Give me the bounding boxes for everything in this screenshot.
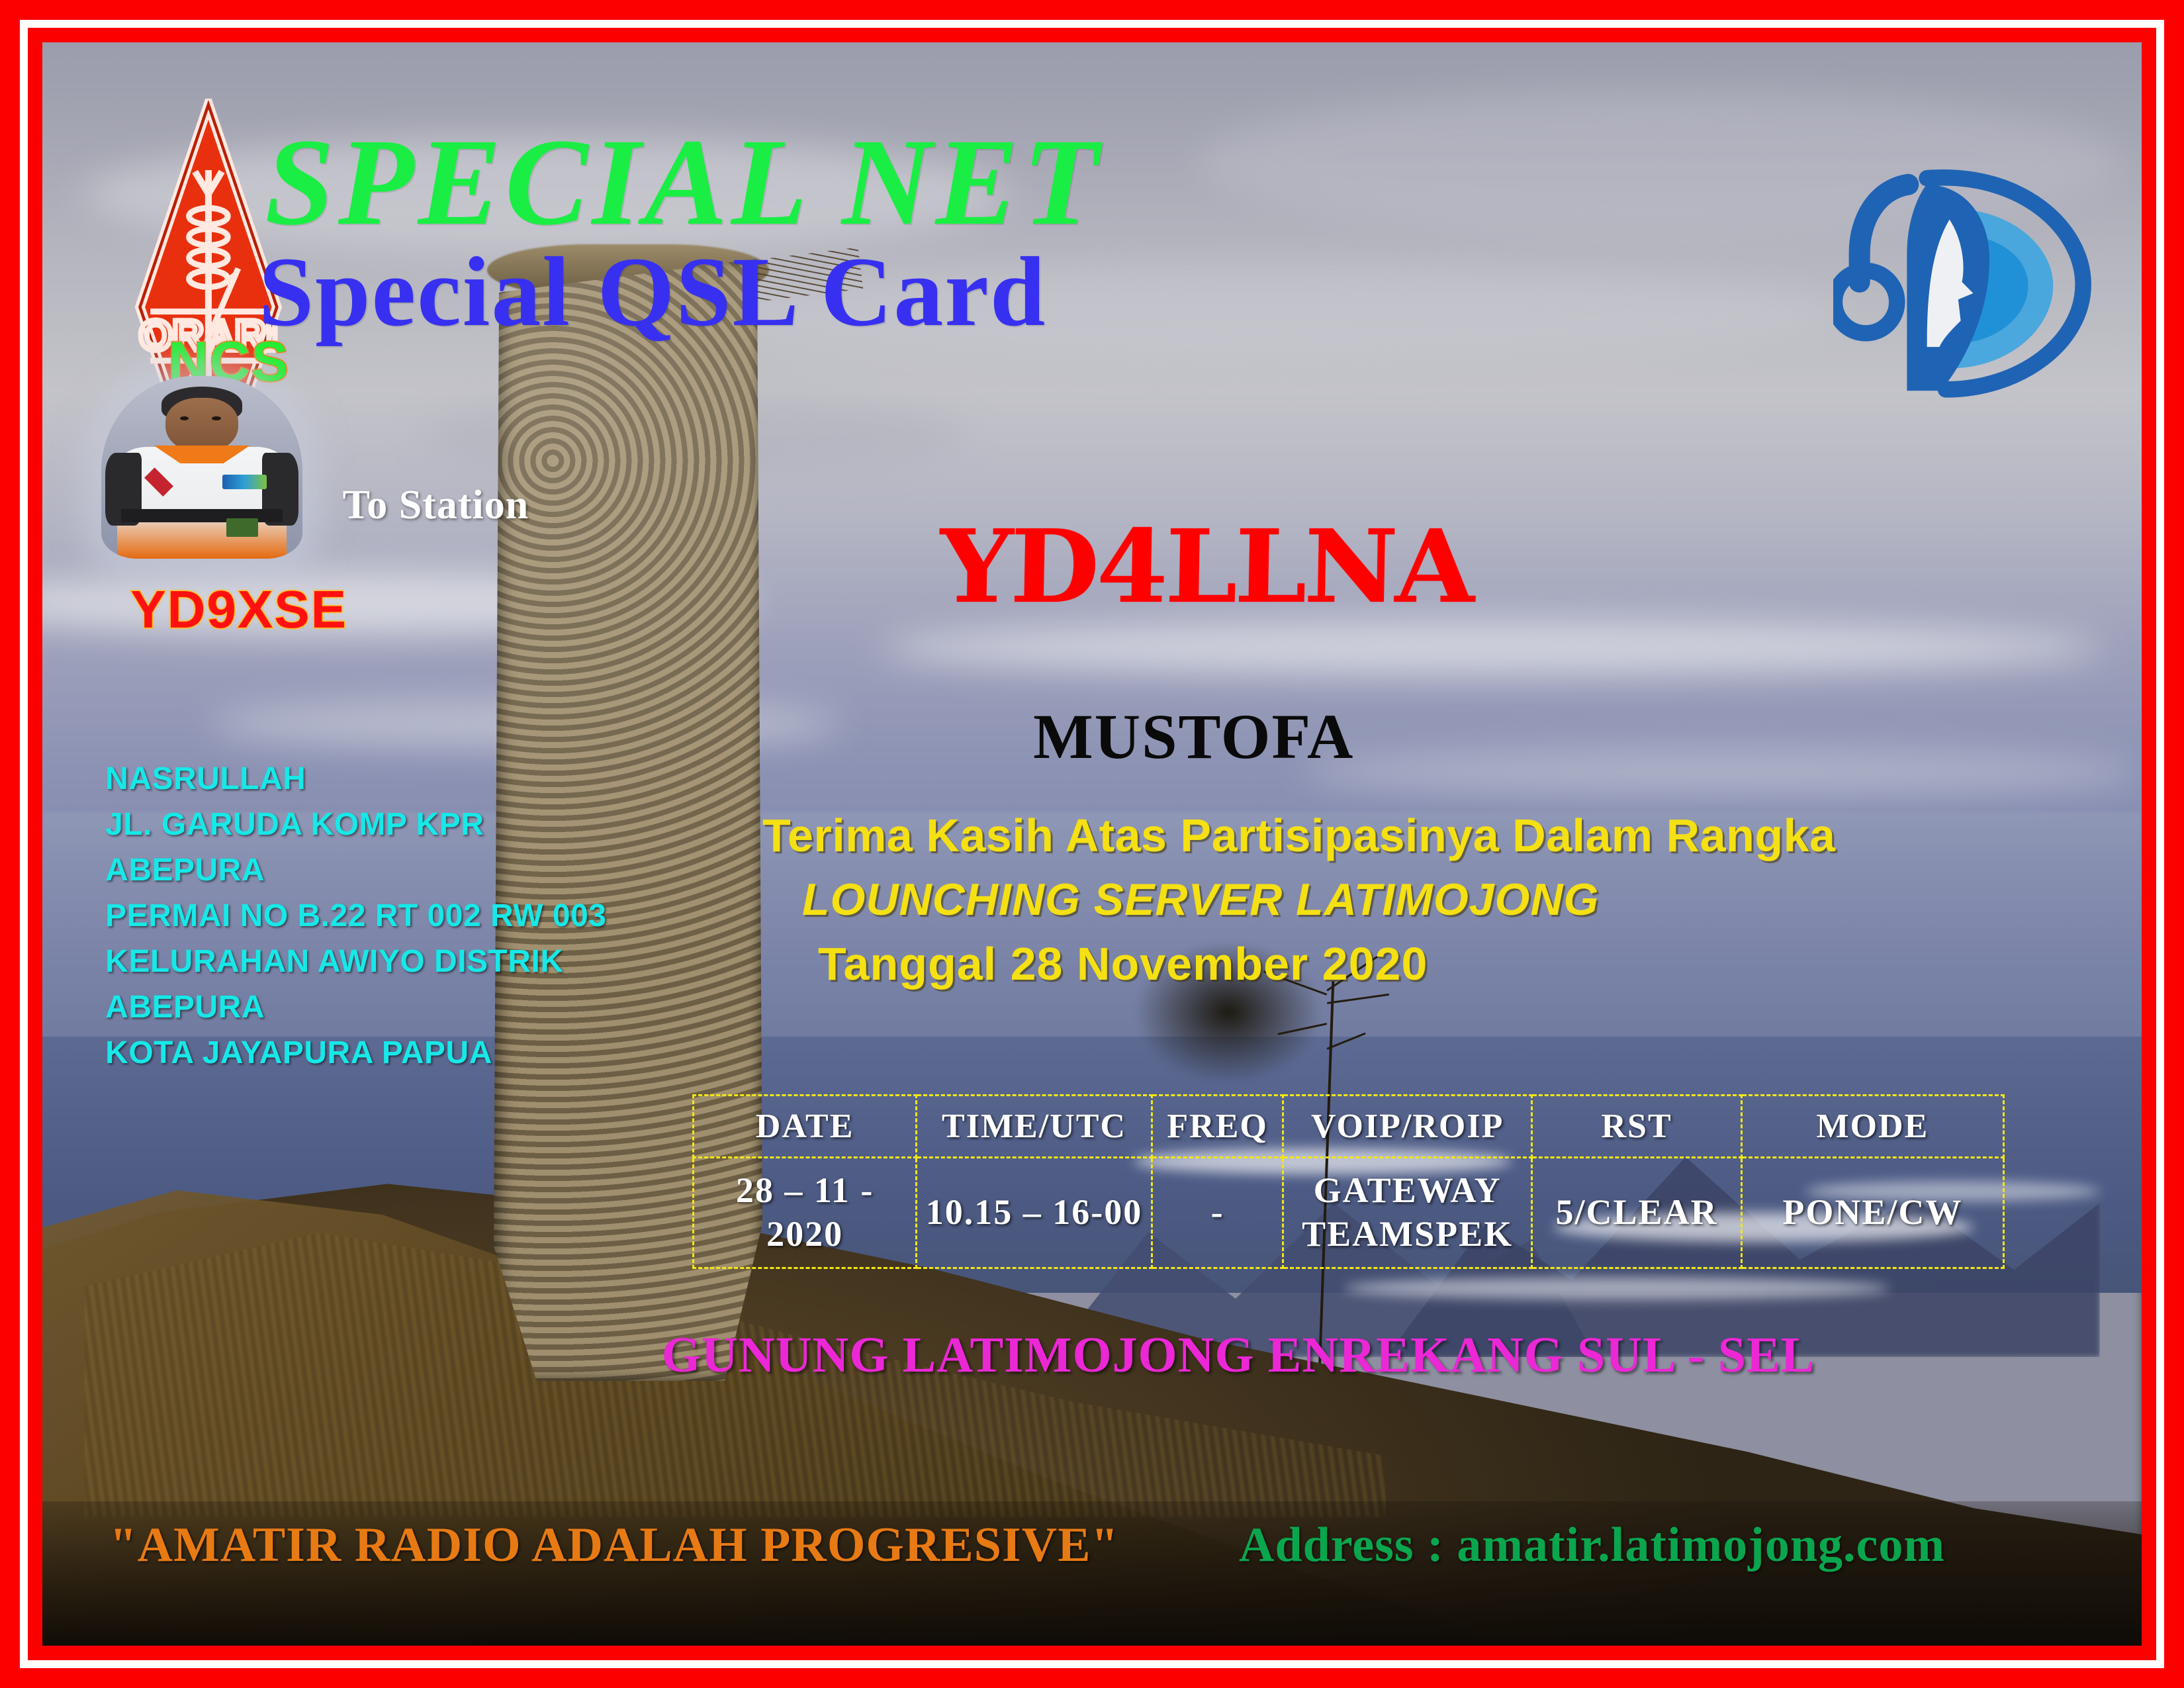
column-header-freq: FREQ (1152, 1095, 1283, 1157)
page-title: SPECIAL NET (265, 110, 1103, 254)
operator-portrait-photo (101, 376, 303, 559)
headset-sound-logo-icon (1833, 110, 2096, 447)
table-header-row: DATE TIME/UTC FREQ VOIP/ROIP RST MODE (694, 1095, 2004, 1157)
address-line: NASRULLAH (105, 756, 606, 802)
footer-address: Address : amatir.latimojong.com (1239, 1517, 1945, 1573)
address-line: ABEPURA (105, 847, 606, 893)
card-inner-frame: ORARI (28, 28, 2156, 1660)
card-overlay: ORARI (42, 42, 2142, 1646)
card-outer-frame: ORARI (0, 0, 2184, 1688)
page-subtitle: Special QSL Card (259, 235, 1047, 349)
column-header-voip-roip: VOIP/ROIP (1283, 1095, 1532, 1157)
footer-motto: "AMATIR RADIO ADALAH PROGRESIVE" (110, 1517, 1119, 1573)
address-line: JL. GARUDA KOMP KPR (105, 802, 606, 847)
cell-rst: 5/CLEAR (1532, 1157, 1742, 1268)
address-block: NASRULLAH JL. GARUDA KOMP KPR ABEPURA PE… (105, 756, 606, 1076)
qsl-card-photo-area: ORARI (42, 42, 2142, 1646)
cell-time-utc: 10.15 – 16-00 (916, 1157, 1152, 1268)
card-white-frame: ORARI (20, 20, 2164, 1668)
column-header-mode: MODE (1741, 1095, 2003, 1157)
table-row: 28 – 11 - 2020 10.15 – 16-00 - GATEWAY T… (694, 1157, 2004, 1268)
column-header-rst: RST (1532, 1095, 1742, 1157)
address-line: PERMAI NO B.22 RT 002 RW 003 (105, 893, 606, 939)
event-date-line: Tanggal 28 November 2020 (818, 937, 1836, 990)
portrait-id-card (226, 518, 259, 537)
station-callsign: YD4LLNA (938, 507, 1473, 626)
portrait-uniform (117, 447, 287, 558)
event-title-line: LOUNCHING SERVER LATIMOJONG (802, 874, 1836, 925)
portrait-sash (121, 509, 283, 522)
cell-freq: - (1152, 1157, 1283, 1268)
portrait-eye (212, 416, 221, 421)
portrait-face (165, 398, 238, 453)
to-station-label: To Station (343, 482, 529, 529)
address-line: KOTA JAYAPURA PAPUA (105, 1030, 606, 1076)
column-header-date: DATE (694, 1095, 917, 1157)
address-line: ABEPURA (105, 984, 606, 1030)
address-line: KELURAHAN AWIYO DISTRIK (105, 939, 606, 984)
cell-date: 28 – 11 - 2020 (694, 1157, 917, 1268)
event-thanks-line: Terima Kasih Atas Partisipasinya Dalam R… (762, 809, 1836, 862)
cell-mode: PONE/CW (1741, 1157, 2003, 1268)
qso-data-table: DATE TIME/UTC FREQ VOIP/ROIP RST MODE 28… (692, 1094, 2005, 1269)
event-text-block: Terima Kasih Atas Partisipasinya Dalam R… (762, 809, 1836, 990)
cell-voip-roip: GATEWAY TEAMSPEK (1283, 1157, 1532, 1268)
portrait-patch (222, 475, 267, 489)
operator-name: MUSTOFA (1033, 700, 1354, 773)
column-header-time-utc: TIME/UTC (916, 1095, 1152, 1157)
location-caption: GUNUNG LATIMOJONG ENREKANG SUL - SEL (662, 1327, 1815, 1384)
ncs-callsign: YD9XSE (130, 579, 347, 640)
